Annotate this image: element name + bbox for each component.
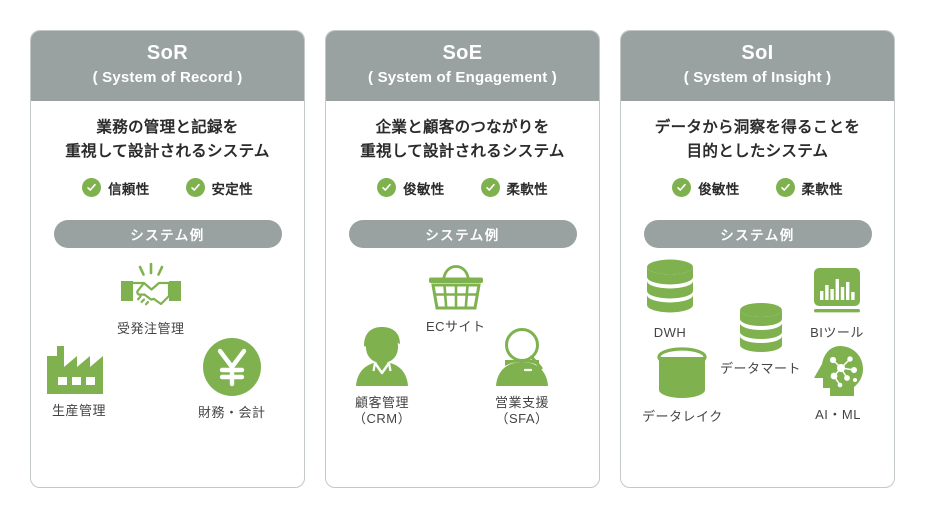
description-line-1: 業務の管理と記録を bbox=[65, 116, 269, 140]
description-line-2: 目的としたシステム bbox=[655, 140, 860, 164]
card-soi-examples: DWH bbox=[628, 254, 887, 444]
card-soi-subtitle: ( System of Insight ) bbox=[627, 67, 888, 90]
description-line-1: データから洞察を得ることを bbox=[655, 116, 860, 140]
card-soi-title: SoI bbox=[627, 41, 888, 66]
card-sor-title: SoR bbox=[37, 41, 298, 66]
system-examples-pill: システム例 bbox=[349, 220, 577, 248]
trait-label: 柔軟性 bbox=[507, 178, 548, 198]
example-item-ec-site: ECサイト bbox=[426, 264, 486, 336]
card-soe-traits: 俊敏性 柔軟性 bbox=[377, 178, 548, 198]
check-icon bbox=[186, 178, 205, 197]
person-customer-icon bbox=[353, 326, 411, 393]
bi-chart-icon bbox=[810, 266, 864, 323]
check-icon bbox=[481, 178, 500, 197]
example-label: 営業支援 （SFA） bbox=[495, 395, 549, 429]
card-soe-subtitle: ( System of Engagement ) bbox=[332, 67, 593, 90]
example-label: BIツール bbox=[810, 325, 864, 342]
example-item-ai-ml: AI・ML bbox=[810, 344, 866, 424]
card-soi-body: データから洞察を得ることを 目的としたシステム 俊敏性 柔軟性 システム例 bbox=[621, 101, 894, 488]
example-label: ECサイト bbox=[426, 319, 486, 336]
system-examples-pill: システム例 bbox=[54, 220, 282, 248]
trait-label: 俊敏性 bbox=[698, 178, 739, 198]
example-label: AI・ML bbox=[815, 407, 861, 424]
check-icon bbox=[672, 178, 691, 197]
example-item-crm: 顧客管理 （CRM） bbox=[353, 326, 411, 429]
card-sor-body: 業務の管理と記録を 重視して設計されるシステム 信頼性 安定性 システム例 bbox=[31, 101, 304, 488]
trait-item: 信頼性 bbox=[82, 178, 149, 198]
card-soi-description: データから洞察を得ることを 目的としたシステム bbox=[655, 116, 860, 164]
example-item-handshake: 受発注管理 bbox=[117, 262, 185, 338]
card-sor-description: 業務の管理と記録を 重視して設計されるシステム bbox=[65, 116, 269, 164]
system-examples-pill: システム例 bbox=[644, 220, 872, 248]
trait-label: 信頼性 bbox=[108, 178, 149, 198]
example-label: データレイク bbox=[642, 409, 723, 426]
example-item-datalake: データレイク bbox=[642, 346, 723, 426]
systems-comparison-board: SoR ( System of Record ) 業務の管理と記録を 重視して設… bbox=[0, 0, 925, 525]
description-line-1: 企業と顧客のつながりを bbox=[360, 116, 564, 140]
example-label: 受発注管理 bbox=[117, 321, 185, 338]
card-soi-traits: 俊敏性 柔軟性 bbox=[672, 178, 843, 198]
trait-item: 柔軟性 bbox=[481, 178, 548, 198]
trait-item: 安定性 bbox=[186, 178, 253, 198]
example-label: DWH bbox=[654, 325, 687, 342]
card-sor-traits: 信頼性 安定性 bbox=[82, 178, 253, 198]
check-icon bbox=[82, 178, 101, 197]
card-sor-subtitle: ( System of Record ) bbox=[37, 67, 298, 90]
card-soi: SoI ( System of Insight ) データから洞察を得ることを … bbox=[620, 30, 895, 488]
description-line-2: 重視して設計されるシステム bbox=[65, 140, 269, 164]
example-label: データマート bbox=[720, 361, 801, 378]
example-label: 生産管理 bbox=[52, 403, 106, 420]
card-soe-title: SoE bbox=[332, 41, 593, 66]
check-icon bbox=[377, 178, 396, 197]
description-line-2: 重視して設計されるシステム bbox=[360, 140, 564, 164]
trait-item: 俊敏性 bbox=[672, 178, 739, 198]
card-soe-description: 企業と顧客のつながりを 重視して設計されるシステム bbox=[360, 116, 564, 164]
database-stack-icon bbox=[644, 258, 696, 323]
database-small-icon bbox=[737, 302, 785, 359]
person-sales-icon bbox=[493, 326, 551, 393]
ai-brain-icon bbox=[810, 344, 866, 405]
example-item-dwh: DWH bbox=[644, 258, 696, 342]
example-item-bi-tool: BIツール bbox=[810, 266, 864, 342]
data-lake-cylinder-icon bbox=[655, 346, 709, 407]
trait-item: 俊敏性 bbox=[377, 178, 444, 198]
trait-label: 柔軟性 bbox=[802, 178, 843, 198]
card-sor-examples: 受発注管理 生産管理 bbox=[38, 254, 297, 444]
example-label: 財務・会計 bbox=[198, 405, 266, 422]
card-soe-examples: ECサイト bbox=[333, 254, 592, 444]
card-soe: SoE ( System of Engagement ) 企業と顧客のつながりを… bbox=[325, 30, 600, 488]
card-soe-header: SoE ( System of Engagement ) bbox=[326, 31, 599, 101]
handshake-icon bbox=[118, 262, 184, 319]
example-item-datamart: データマート bbox=[720, 302, 801, 378]
trait-item: 柔軟性 bbox=[776, 178, 843, 198]
card-sor: SoR ( System of Record ) 業務の管理と記録を 重視して設… bbox=[30, 30, 305, 488]
factory-icon bbox=[44, 342, 114, 401]
card-soe-body: 企業と顧客のつながりを 重視して設計されるシステム 俊敏性 柔軟性 システム例 bbox=[326, 101, 599, 488]
example-item-sfa: 営業支援 （SFA） bbox=[493, 326, 551, 429]
card-soi-header: SoI ( System of Insight ) bbox=[621, 31, 894, 101]
trait-label: 俊敏性 bbox=[403, 178, 444, 198]
trait-label: 安定性 bbox=[212, 178, 253, 198]
example-item-factory: 生産管理 bbox=[44, 342, 114, 420]
card-sor-header: SoR ( System of Record ) bbox=[31, 31, 304, 101]
example-item-finance: 財務・会計 bbox=[198, 336, 266, 422]
yen-coin-icon bbox=[201, 336, 263, 403]
example-label: 顧客管理 （CRM） bbox=[353, 395, 411, 429]
shopping-basket-icon bbox=[427, 264, 485, 317]
check-icon bbox=[776, 178, 795, 197]
